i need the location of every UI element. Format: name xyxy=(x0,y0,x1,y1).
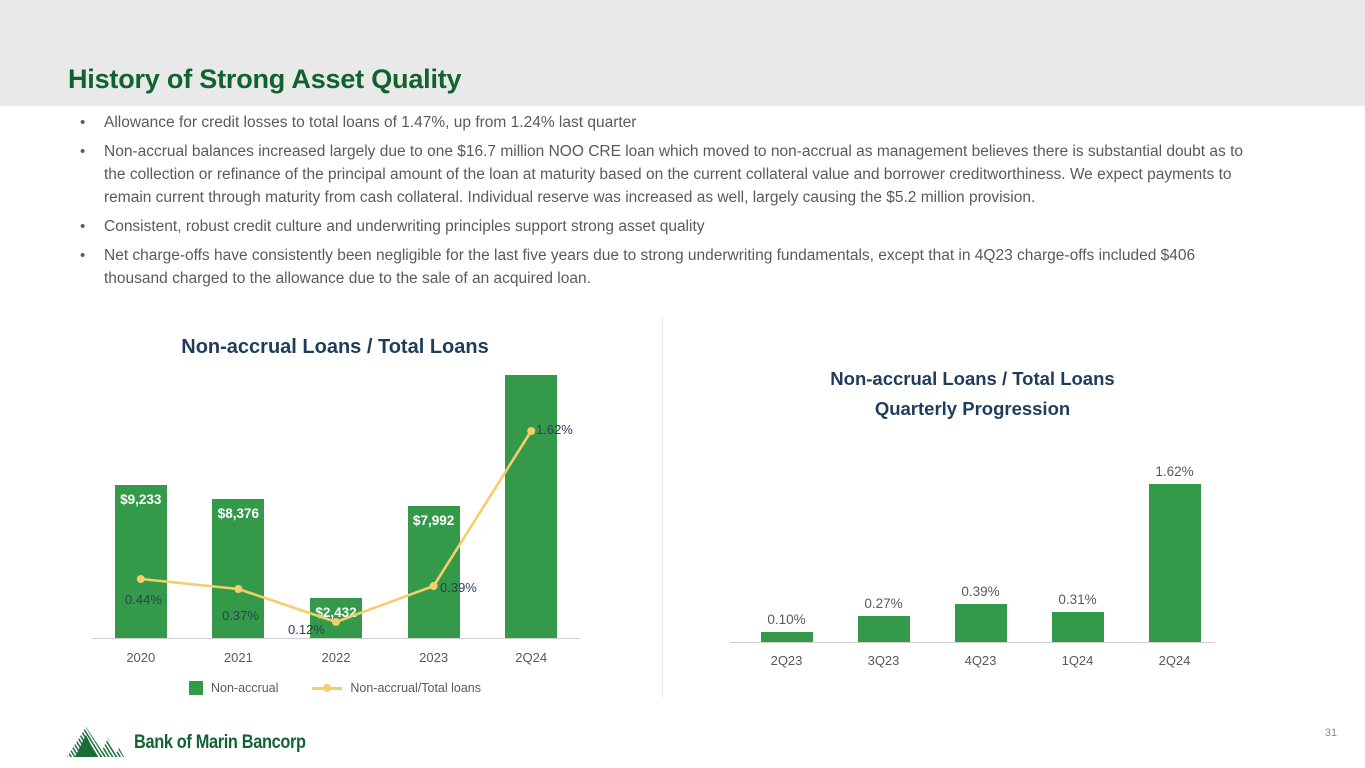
legend-item-bar: Non-accrual xyxy=(189,681,278,695)
bar-value-label: 0.31% xyxy=(1033,592,1123,607)
legend-label-bar: Non-accrual xyxy=(211,681,278,695)
category-label: 2022 xyxy=(291,650,381,665)
chart-divider xyxy=(662,316,663,698)
bar xyxy=(1149,484,1201,642)
line-value-label: 0.12% xyxy=(288,622,325,637)
category-label: 2023 xyxy=(389,650,479,665)
bullet-text: Consistent, robust credit culture and un… xyxy=(104,218,705,235)
bullet-text: Non-accrual balances increased largely d… xyxy=(104,143,1243,206)
line-value-label: 0.39% xyxy=(440,580,477,595)
bullet-marker: • xyxy=(80,111,85,134)
bar-value-label: 0.27% xyxy=(839,596,929,611)
left-chart-title: Non-accrual Loans / Total Loans xyxy=(95,336,575,359)
category-label: 2Q24 xyxy=(1130,653,1220,668)
legend-swatch-icon xyxy=(189,681,203,695)
bullet-marker: • xyxy=(80,215,85,238)
left-chart-legend: Non-accrual Non-accrual/Total loans xyxy=(95,681,575,695)
category-label: 3Q23 xyxy=(839,653,929,668)
page-title: History of Strong Asset Quality xyxy=(68,64,461,95)
bullet-marker: • xyxy=(80,244,85,267)
bullet-item: • Non-accrual balances increased largely… xyxy=(70,140,1250,209)
bar xyxy=(955,604,1007,642)
category-label: 2Q24 xyxy=(486,650,576,665)
category-label: 1Q24 xyxy=(1033,653,1123,668)
bullet-item: • Allowance for credit losses to total l… xyxy=(70,111,1250,134)
category-label: 2020 xyxy=(96,650,186,665)
line-value-label: 0.37% xyxy=(222,608,259,623)
bar xyxy=(858,616,910,642)
right-chart-title: Non-accrual Loans / Total Loans Quarterl… xyxy=(730,364,1215,424)
bar-value-label: 0.10% xyxy=(742,612,832,627)
right-chart-title-line2: Quarterly Progression xyxy=(730,394,1215,424)
category-label: 2021 xyxy=(193,650,283,665)
legend-line-icon xyxy=(312,681,342,695)
right-chart-axis xyxy=(730,642,1215,643)
page-number: 31 xyxy=(1316,727,1346,739)
category-label: 4Q23 xyxy=(936,653,1026,668)
bullet-text: Net charge-offs have consistently been n… xyxy=(104,247,1195,287)
bullet-marker: • xyxy=(80,140,85,163)
right-chart-title-line1: Non-accrual Loans / Total Loans xyxy=(730,364,1215,394)
mountain-logo-icon xyxy=(66,726,124,759)
legend-label-line: Non-accrual/Total loans xyxy=(350,681,481,695)
bar-value-label: 0.39% xyxy=(936,584,1026,599)
logo-wordmark: Bank of Marin Bancorp xyxy=(134,732,306,754)
line-value-label: 0.44% xyxy=(125,592,162,607)
line-series xyxy=(92,370,580,642)
bullet-item: • Consistent, robust credit culture and … xyxy=(70,215,1250,238)
bullet-text: Allowance for credit losses to total loa… xyxy=(104,114,636,131)
bar xyxy=(1052,612,1104,642)
slide: History of Strong Asset Quality • Allowa… xyxy=(0,0,1365,768)
legend-item-line: Non-accrual/Total loans xyxy=(312,681,481,695)
footer-logo: Bank of Marin Bancorp xyxy=(66,726,334,759)
bar xyxy=(761,632,813,642)
bullet-list: • Allowance for credit losses to total l… xyxy=(70,111,1250,296)
line-value-label: 1.62% xyxy=(536,422,573,437)
right-chart-plot: 0.10%2Q230.27%3Q230.39%4Q230.31%1Q241.62… xyxy=(730,440,1215,675)
category-label: 2Q23 xyxy=(742,653,832,668)
left-chart-plot: $9,2332020$8,3762021$2,4322022$7,9922023… xyxy=(92,370,580,640)
bar-value-label: 1.62% xyxy=(1130,464,1220,479)
bullet-item: • Net charge-offs have consistently been… xyxy=(70,244,1250,290)
